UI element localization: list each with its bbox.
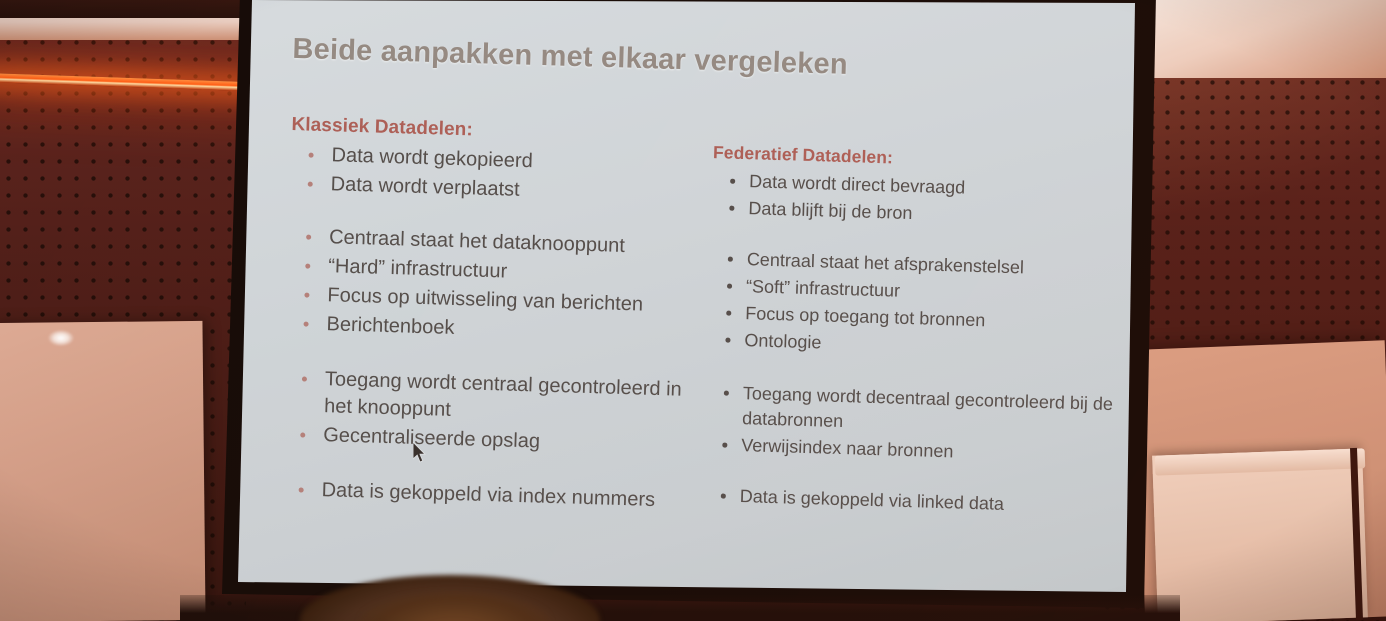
light-glint — [48, 330, 74, 346]
bullet-group-1-left: Data wordt gekopieerd Data wordt verplaa… — [289, 141, 710, 209]
slide-column-klassiek: Klassiek Datadelen: Data wordt gekopieer… — [280, 114, 711, 517]
slide-column-federatief: Federatief Datadelen: Data wordt direct … — [702, 142, 1133, 522]
bullet-group-2-right: Centraal staat het afsprakenstelsel “Sof… — [707, 246, 1130, 364]
bullet-group-3-left: Toegang wordt centraal gecontroleerd in … — [282, 365, 704, 460]
photo-scene: Beide aanpakken met elkaar vergeleken Kl… — [0, 0, 1386, 621]
mouse-cursor-icon — [413, 442, 429, 471]
bullet-group-3-right: Toegang wordt decentraal gecontroleerd b… — [704, 380, 1126, 469]
list-item: Toegang wordt centraal gecontroleerd in … — [283, 365, 704, 431]
flipchart-left — [0, 321, 206, 621]
slide-title: Beide aanpakken met elkaar vergeleken — [292, 33, 848, 82]
projection-screen: Beide aanpakken met elkaar vergeleken Kl… — [208, 0, 1158, 621]
bullet-group-1-right: Data wordt direct bevraagd Data blijft b… — [711, 168, 1132, 232]
bullet-group-2-left: Centraal staat het dataknooppunt “Hard” … — [285, 223, 708, 349]
ceiling-shadow-left — [0, 0, 246, 18]
slide-surface: Beide aanpakken met elkaar vergeleken Kl… — [208, 0, 1158, 621]
